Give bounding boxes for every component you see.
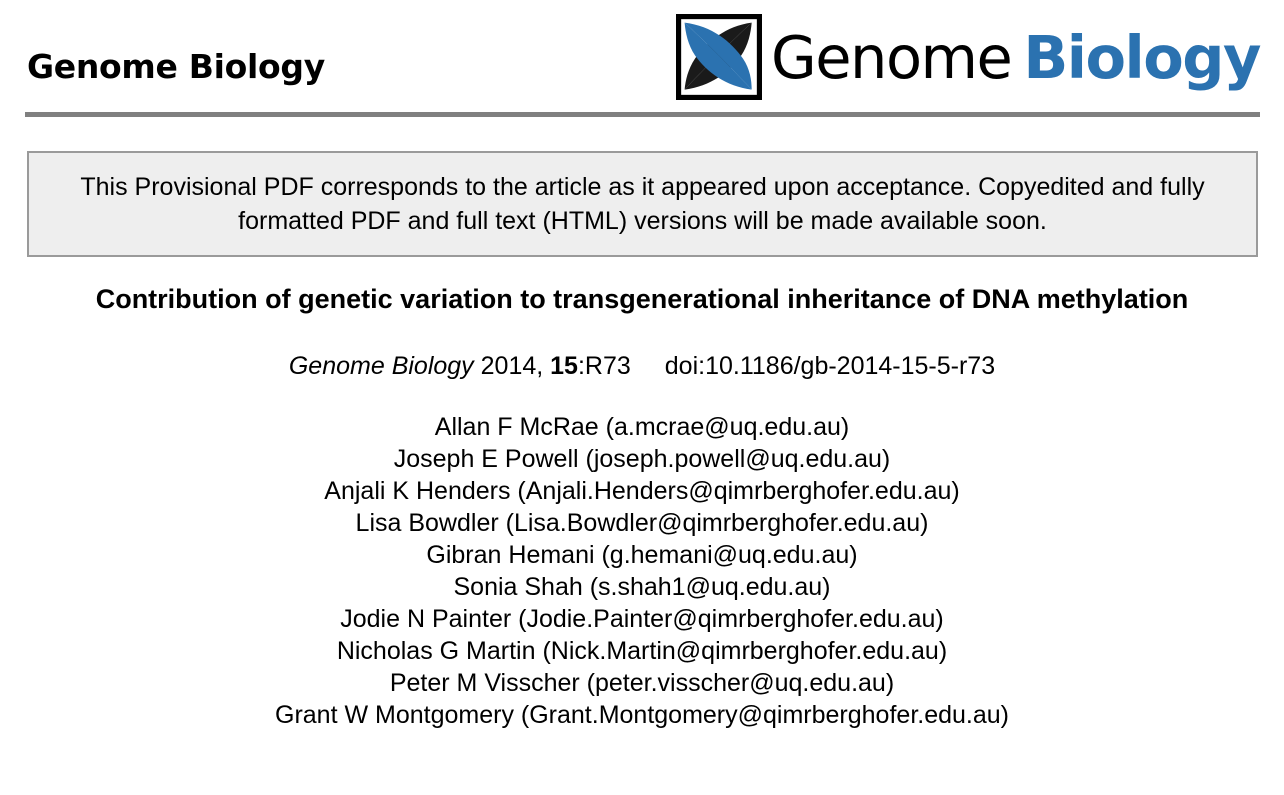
author-list-item[interactable]: Jodie N Painter (Jodie.Painter@qimrbergh… [0, 603, 1284, 635]
author-list-item[interactable]: Joseph E Powell (joseph.powell@uq.edu.au… [0, 443, 1284, 475]
author-list-item[interactable]: Peter M Visscher (peter.visscher@uq.edu.… [0, 667, 1284, 699]
article-citation: Genome Biology 2014, 15:R73doi:10.1186/g… [0, 316, 1284, 381]
masthead-divider [25, 112, 1260, 117]
author-list-item[interactable]: Nicholas G Martin (Nick.Martin@qimrbergh… [0, 635, 1284, 667]
author-list-item[interactable]: Anjali K Henders (Anjali.Henders@qimrber… [0, 475, 1284, 507]
logo-word-biology: Biology [1023, 28, 1260, 87]
author-list-item[interactable]: Lisa Bowdler (Lisa.Bowdler@qimrberghofer… [0, 507, 1284, 539]
author-list-item[interactable]: Gibran Hemani (g.hemani@uq.edu.au) [0, 539, 1284, 571]
author-list-item[interactable]: Sonia Shah (s.shah1@uq.edu.au) [0, 571, 1284, 603]
genome-biology-butterfly-mark-icon [676, 14, 762, 100]
article-title: Contribution of genetic variation to tra… [82, 282, 1202, 316]
author-list-item[interactable]: Allan F McRae (a.mcrae@uq.edu.au) [0, 411, 1284, 443]
author-list: Allan F McRae (a.mcrae@uq.edu.au) Joseph… [0, 381, 1284, 731]
citation-year: 2014, [481, 352, 544, 380]
logo-word-genome: Genome [771, 28, 1011, 87]
provisional-pdf-notice-text: This Provisional PDF corresponds to the … [63, 170, 1223, 238]
article-header: Contribution of genetic variation to tra… [0, 282, 1284, 731]
citation-doi[interactable]: doi:10.1186/gb-2014-15-5-r73 [665, 352, 995, 380]
masthead: Genome Biology Genome Biology [0, 0, 1284, 118]
author-list-item[interactable]: Grant W Montgomery (Grant.Montgomery@qim… [0, 699, 1284, 731]
citation-article-number: :R73 [578, 352, 631, 380]
citation-journal-name: Genome Biology [289, 352, 474, 380]
citation-volume: 15 [550, 352, 578, 380]
genome-biology-logo[interactable]: Genome Biology [676, 14, 1260, 100]
journal-masthead-title: Genome Biology [27, 50, 325, 83]
provisional-pdf-notice: This Provisional PDF corresponds to the … [27, 151, 1258, 257]
logo-wordmark: Genome Biology [771, 28, 1260, 87]
